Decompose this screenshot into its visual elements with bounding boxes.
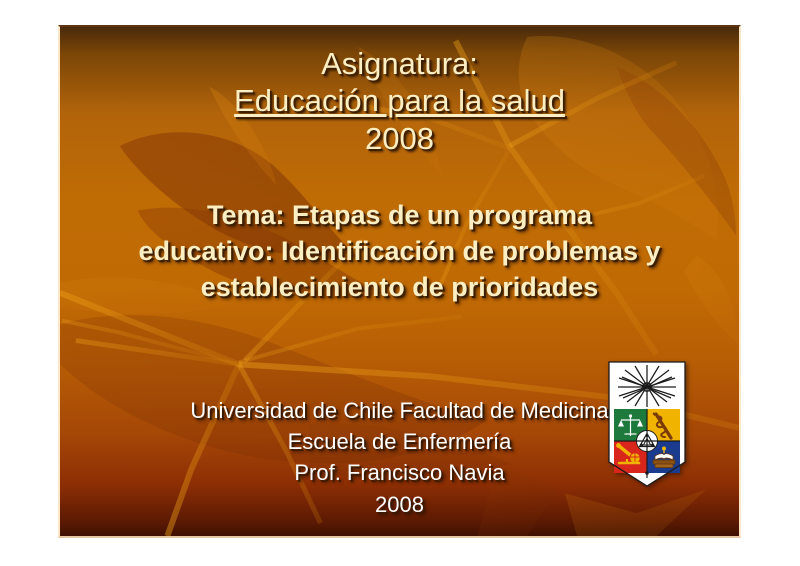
slide-heading: Tema: Etapas de un programa educativo: I… <box>60 197 739 306</box>
heading-line-2: educativo: Identificación de problemas y <box>88 233 711 269</box>
heading-line-1: Tema: Etapas de un programa <box>88 197 711 233</box>
shield-base-dot <box>645 471 649 475</box>
university-emblem <box>605 360 689 488</box>
heading-line-3: establecimiento de prioridades <box>88 269 711 305</box>
presentation-slide: Asignatura: Educación para la salud 2008… <box>58 25 741 538</box>
title-line-2: Educación para la salud <box>60 84 739 117</box>
credits-line-year: 2008 <box>60 489 739 520</box>
title-line-1: Asignatura: <box>60 47 739 80</box>
star-center-dot-icon <box>645 385 648 388</box>
slide-title: Asignatura: Educación para la salud 2008 <box>60 47 739 159</box>
title-line-3: 2008 <box>60 122 739 155</box>
